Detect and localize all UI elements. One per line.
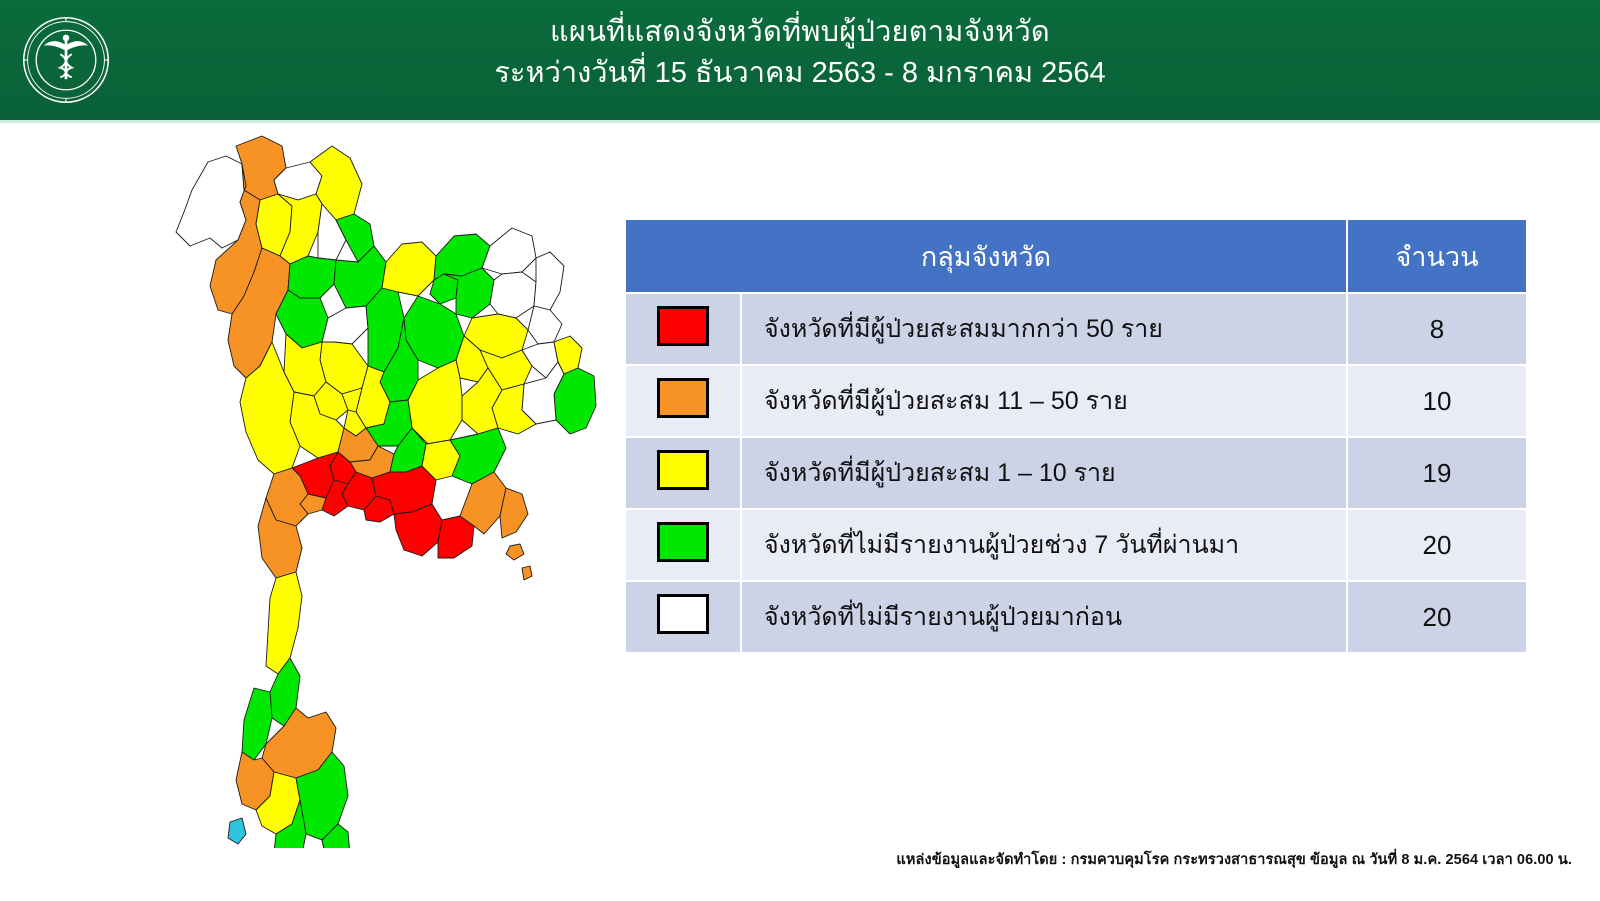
table-row[interactable]: จังหวัดที่ไม่มีรายงานผู้ป่วยมาก่อน 20 (626, 582, 1526, 652)
province-trat-island-1 (506, 544, 524, 560)
province-sukhothai[interactable] (288, 256, 336, 298)
legend-count-orange: 10 (1348, 366, 1526, 436)
table-row[interactable]: จังหวัดที่มีผู้ป่วยสะสมมากกว่า 50 ราย 8 (626, 294, 1526, 364)
color-swatch-green (657, 522, 709, 562)
legend-table-head: กลุ่มจังหวัด จำนวน (626, 220, 1526, 292)
color-swatch-orange (657, 378, 709, 418)
province-prachuap-khiri-khan[interactable] (266, 572, 302, 674)
legend-label-orange: จังหวัดที่มีผู้ป่วยสะสม 11 – 50 ราย (742, 366, 1346, 436)
slide-root: แผนที่แสดงจังหวัดที่พบผู้ป่วยตามจังหวัด … (0, 0, 1600, 901)
province-mae-hong-son[interactable] (176, 156, 246, 248)
legend-table: กลุ่มจังหวัด จำนวน จังหวัดที่มีผู้ป่วยสะ… (624, 218, 1528, 654)
legend-count-red: 8 (1348, 294, 1526, 364)
legend-label-green: จังหวัดที่ไม่มีรายงานผู้ป่วยช่วง 7 วันที… (742, 510, 1346, 580)
legend-swatch-cell-red (626, 294, 740, 364)
color-swatch-yellow (657, 450, 709, 490)
header-title-block: แผนที่แสดงจังหวัดที่พบผู้ป่วยตามจังหวัด … (130, 12, 1470, 94)
legend-count-yellow: 19 (1348, 438, 1526, 508)
legend-count-white: 20 (1348, 582, 1526, 652)
province-kamphaeng-phet[interactable] (276, 290, 328, 348)
legend-swatch-cell-yellow (626, 438, 740, 508)
page-title: แผนที่แสดงจังหวัดที่พบผู้ป่วยตามจังหวัด (130, 12, 1470, 52)
page-subtitle: ระหว่างวันที่ 15 ธันวาคม 2563 - 8 มกราคม… (130, 52, 1470, 94)
province-loei[interactable] (382, 242, 436, 296)
legend-swatch-cell-white (626, 582, 740, 652)
legend-header-count: จำนวน (1348, 220, 1526, 292)
legend-table-body: จังหวัดที่มีผู้ป่วยสะสมมากกว่า 50 ราย 8 … (626, 294, 1526, 652)
page-header: แผนที่แสดงจังหวัดที่พบผู้ป่วยตามจังหวัด … (0, 0, 1600, 122)
legend-header-group: กลุ่มจังหวัด (626, 220, 1346, 292)
table-row[interactable]: จังหวัดที่มีผู้ป่วยสะสม 11 – 50 ราย 10 (626, 366, 1526, 436)
legend-swatch-cell-orange (626, 366, 740, 436)
province-phichit[interactable] (322, 306, 368, 344)
province-nakhon-phanom[interactable] (534, 252, 564, 310)
color-swatch-white (657, 594, 709, 634)
legend-label-red: จังหวัดที่มีผู้ป่วยสะสมมากกว่า 50 ราย (742, 294, 1346, 364)
header-divider (0, 120, 1600, 123)
table-row[interactable]: จังหวัดที่ไม่มีรายงานผู้ป่วยช่วง 7 วันที… (626, 510, 1526, 580)
source-footer: แหล่งข้อมูลและจัดทำโดย : กรมควบคุมโรค กร… (0, 848, 1586, 871)
thailand-choropleth-map (150, 128, 610, 848)
province-sakon-nakhon[interactable] (490, 272, 536, 318)
legend-label-white: จังหวัดที่ไม่มีรายงานผู้ป่วยมาก่อน (742, 582, 1346, 652)
province-bueng-kan[interactable] (482, 228, 536, 274)
legend-count-green: 20 (1348, 510, 1526, 580)
legend-label-yellow: จังหวัดที่มีผู้ป่วยสะสม 1 – 10 ราย (742, 438, 1346, 508)
legend-swatch-cell-green (626, 510, 740, 580)
table-row[interactable]: จังหวัดที่มีผู้ป่วยสะสม 1 – 10 ราย 19 (626, 438, 1526, 508)
province-trat-island-2 (522, 566, 532, 580)
ministry-of-public-health-logo (18, 4, 114, 116)
province-phuket[interactable] (228, 818, 246, 844)
legend-header-row: กลุ่มจังหวัด จำนวน (626, 220, 1526, 292)
province-trat[interactable] (500, 488, 528, 538)
color-swatch-red (657, 306, 709, 346)
province-mukdahan[interactable] (528, 306, 562, 344)
